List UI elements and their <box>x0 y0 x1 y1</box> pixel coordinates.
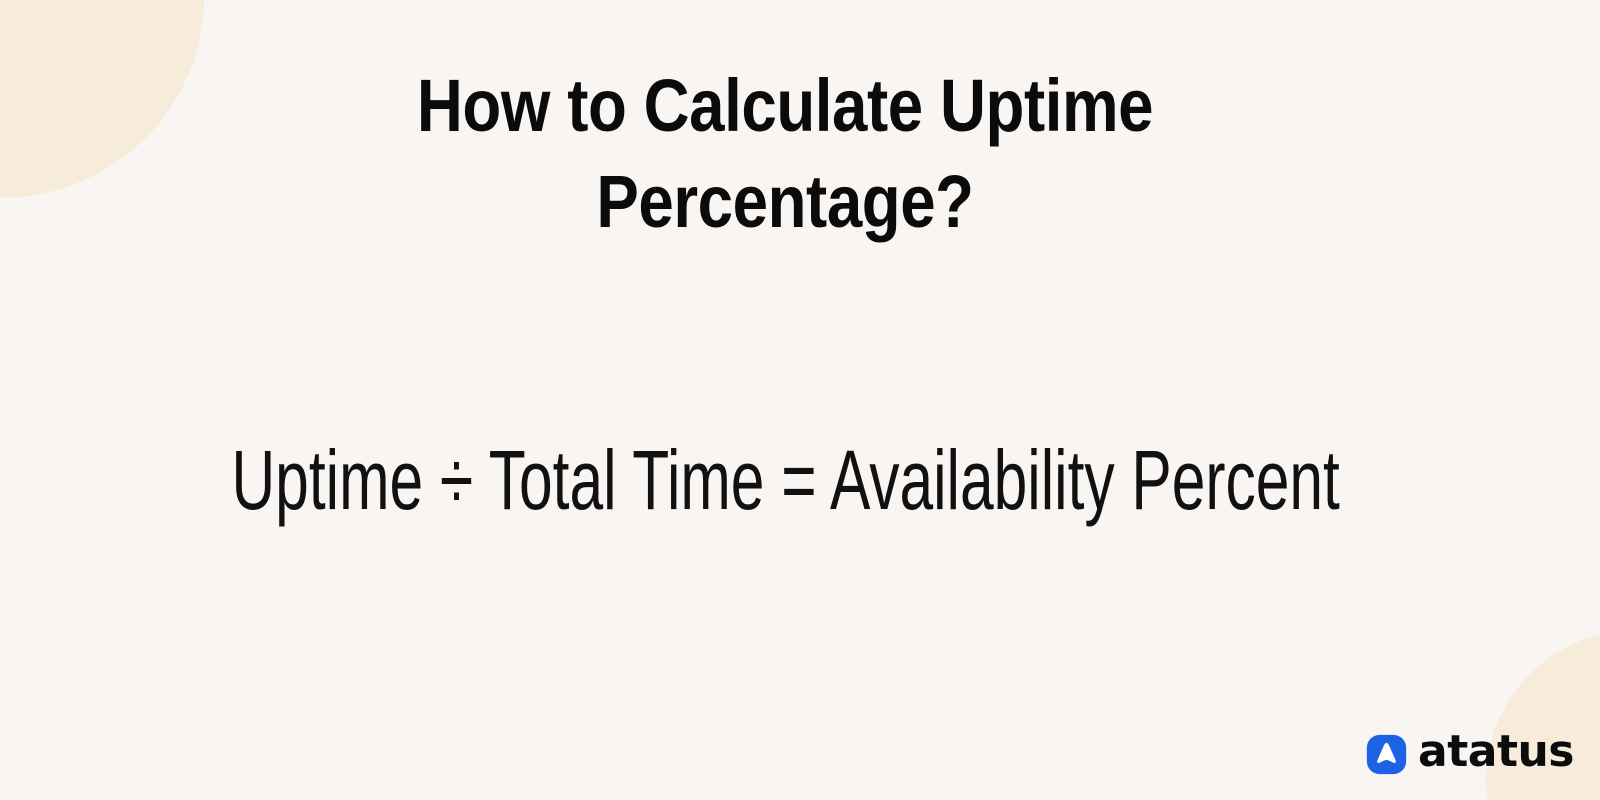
page-title: How to Calculate Uptime Percentage? <box>0 58 1570 250</box>
atatus-wordmark: atatus <box>1418 730 1574 774</box>
page-title-line-2: Percentage? <box>110 154 1460 250</box>
page-title-line-1: How to Calculate Uptime <box>110 58 1460 154</box>
uptime-formula-text: Uptime ÷ Total Time = Availability Perce… <box>232 432 1340 528</box>
atatus-logo: atatus <box>1366 732 1574 776</box>
atatus-arrow-mark-icon <box>1366 734 1407 775</box>
infographic-canvas: How to Calculate Uptime Percentage? Upti… <box>0 0 1600 800</box>
formula-container: Uptime ÷ Total Time = Availability Perce… <box>0 432 1572 528</box>
